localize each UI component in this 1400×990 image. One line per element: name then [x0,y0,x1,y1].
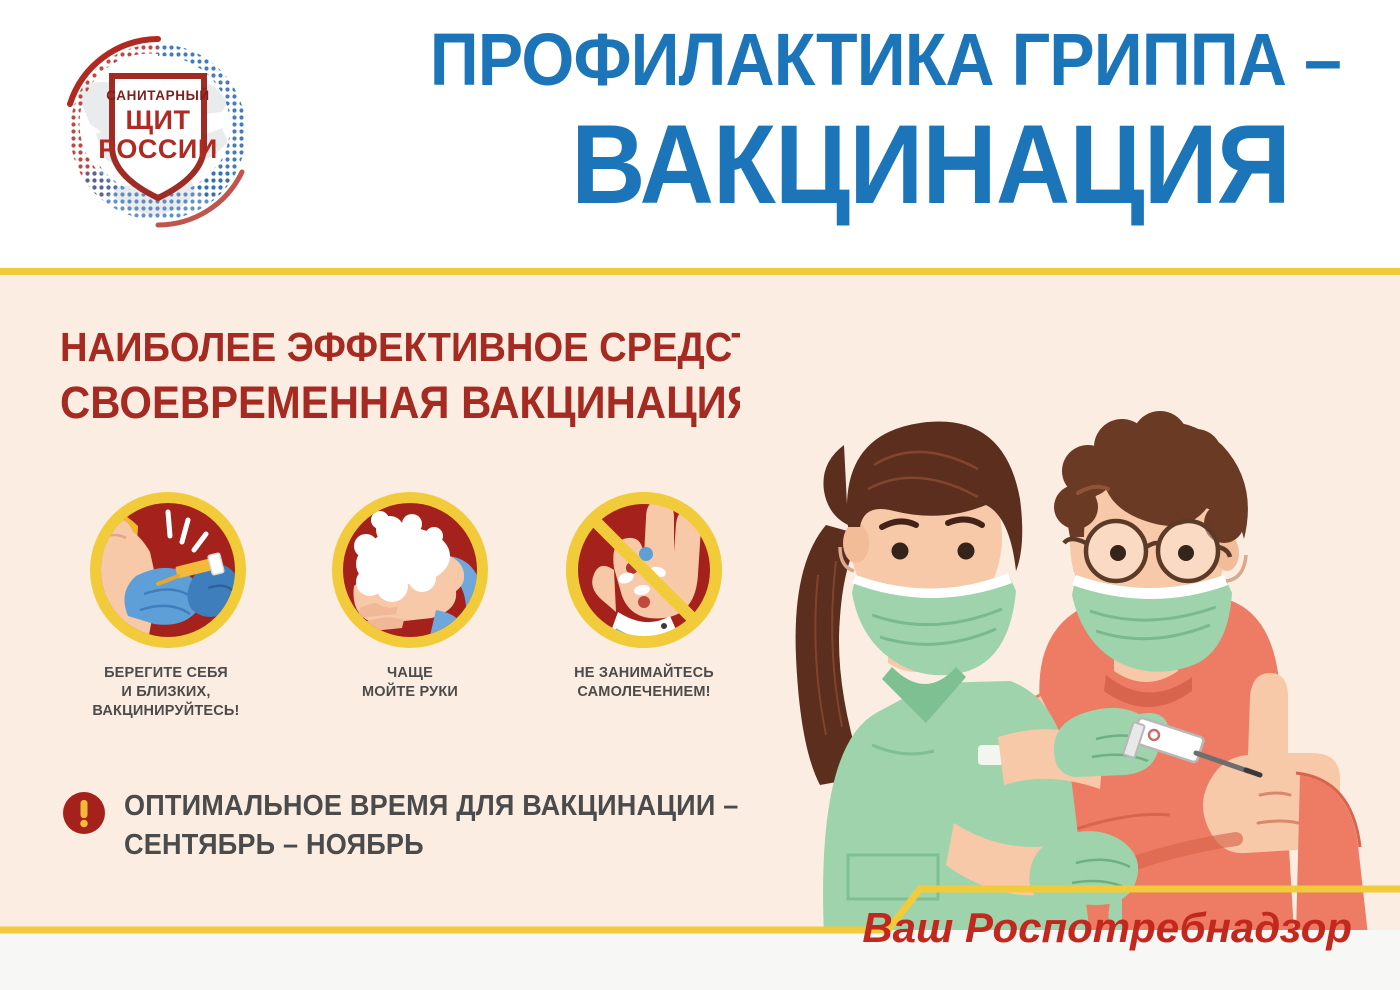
title-line-2: ВАКЦИНАЦИЯ [430,106,1290,224]
poster-body: НАИБОЛЕЕ ЭФФЕКТИВНОЕ СРЕДСТВО ЗАЩИТЫ ОТ … [0,275,1400,935]
tip-caption-no-self-medication: НЕ ЗАНИМАЙТЕСЬ САМОЛЕЧЕНИЕМ! [554,664,734,702]
hand-washing-soap-icon-graphic [330,490,490,650]
logo-line-2: ЩИТ [126,105,191,135]
vaccination-syringe-in-arm-icon-graphic [88,490,248,650]
exclamation-circle-icon [62,791,106,835]
tip-no-self-medication: НЕ ЗАНИМАЙТЕСЬ САМОЛЕЧЕНИЕМ! [554,490,734,702]
header-divider-rule [0,268,1400,275]
no-self-medication-pills-icon-graphic [564,490,724,650]
nurse-vaccinating-patient-illustration [740,275,1400,935]
logo-line-3: РОССИИ [98,134,217,164]
optimal-time-note: ОПТИМАЛЬНОЕ ВРЕМЯ ДЛЯ ВАКЦИНАЦИИ – СЕНТЯ… [62,787,771,865]
logo-line-1: САНИТАРНЫЙ [106,88,209,103]
tip-caption-vaccinate: БЕРЕГИТЕ СЕБЯ И БЛИЗКИХ, ВАКЦИНИРУЙТЕСЬ! [74,664,258,721]
exclamation-circle-icon-graphic [62,791,106,835]
vaccination-scene-graphic [740,275,1400,935]
vaccination-syringe-in-arm-icon [88,490,248,650]
tip-wash-hands: ЧАЩЕ МОЙТЕ РУКИ [320,490,500,702]
optimal-time-note-text: ОПТИМАЛЬНОЕ ВРЕМЯ ДЛЯ ВАКЦИНАЦИИ – СЕНТЯ… [124,787,738,865]
footer-signature: Ваш Роспотребнадзор [862,904,1352,952]
influenza-vaccination-poster: САНИТАРНЫЙ ЩИТ РОССИИ ПРОФИЛАКТИКА ГРИПП… [0,0,1400,990]
title-line-1: ПРОФИЛАКТИКА ГРИППА – [430,14,1290,106]
sanitary-shield-logo: САНИТАРНЫЙ ЩИТ РОССИИ [56,30,260,234]
tip-caption-wash-hands: ЧАЩЕ МОЙТЕ РУКИ [320,664,500,702]
hand-washing-soap-icon [330,490,490,650]
prevention-tips-row: БЕРЕГИТЕ СЕБЯ И БЛИЗКИХ, ВАКЦИНИРУЙТЕСЬ! [78,490,738,740]
no-self-medication-pills-icon [564,490,724,650]
sanitary-shield-logo-graphic: САНИТАРНЫЙ ЩИТ РОССИИ [56,30,260,234]
poster-header: САНИТАРНЫЙ ЩИТ РОССИИ ПРОФИЛАКТИКА ГРИПП… [0,0,1400,270]
poster-title: ПРОФИЛАКТИКА ГРИППА – ВАКЦИНАЦИЯ [355,14,1290,224]
tip-vaccinate: БЕРЕГИТЕ СЕБЯ И БЛИЗКИХ, ВАКЦИНИРУЙТЕСЬ! [78,490,258,721]
